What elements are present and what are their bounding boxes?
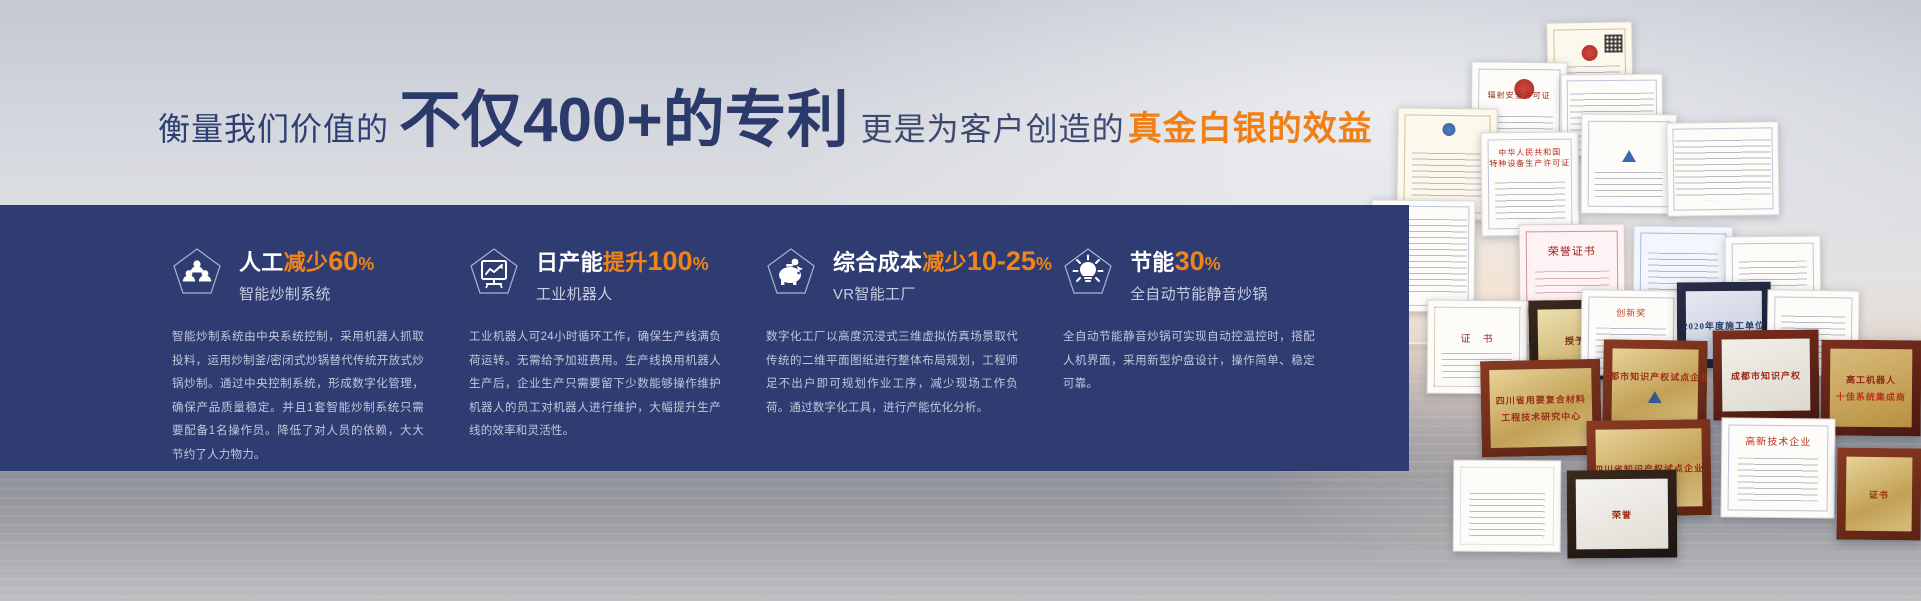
certificate-item (1581, 114, 1678, 215)
feature-title-highlight: 减少 (284, 250, 329, 275)
feature-title-number: 60 (328, 246, 358, 276)
feature-item-energy: 节能30% 全自动节能静音炒锅 全自动节能静音炒锅可实现自动控温控时，搭配人机界… (1063, 245, 1363, 471)
feature-item-labor: 人工减少60% 智能炒制系统 智能炒制系统由中央系统控制，采用机器人抓取投料，运… (172, 245, 469, 471)
features-panel: 人工减少60% 智能炒制系统 智能炒制系统由中央系统控制，采用机器人抓取投料，运… (0, 205, 1409, 471)
feature-title: 日产能提升100% (536, 246, 709, 276)
award-plaque: 四川省用要复合材料工程技术研究中心 (1480, 359, 1602, 457)
feature-title-unit: % (1205, 254, 1221, 274)
feature-title: 综合成本减少10-25% (833, 246, 1052, 276)
feature-subtitle: 智能炒制系统 (239, 283, 375, 304)
headline-emphasis: 不仅400+的专利 (389, 90, 855, 152)
feature-subtitle: VR智能工厂 (833, 283, 1052, 304)
lightbulb-icon (1063, 247, 1113, 297)
feature-title-prefix: 节能 (1130, 250, 1175, 275)
feature-title-prefix: 日产能 (536, 250, 603, 275)
certificate-item: 中华人民共和国特种设备生产许可证 (1480, 131, 1579, 236)
feature-title: 节能30% (1130, 246, 1268, 276)
certificate-item (1453, 460, 1562, 553)
award-plaque: 证书 (1836, 447, 1921, 540)
feature-title: 人工减少60% (239, 246, 375, 276)
feature-body: 数字化工厂以高度沉浸式三维虚拟仿真场景取代传统的二维平面图纸进行整体布局规划，工… (766, 326, 1018, 420)
page-title: 衡量我们价值的 不仅400+的专利 更是为客户创造的 真金白银的效益 (158, 76, 1373, 150)
certificate-item: 高新技术企业 (1720, 417, 1835, 518)
feature-item-capacity: 日产能提升100% 工业机器人 工业机器人可24小时循环工作，确保生产线满负荷运… (469, 245, 766, 471)
feature-subtitle: 工业机器人 (536, 283, 709, 304)
feature-title-number: 30 (1175, 246, 1205, 276)
feature-title-prefix: 综合成本 (833, 250, 922, 275)
feature-body: 智能炒制系统由中央系统控制，采用机器人抓取投料，运用炒制釜/密闭式炒锅替代传统开… (172, 326, 424, 467)
feature-title-prefix: 人工 (239, 250, 284, 275)
headline-middle: 更是为客户创造的 (855, 113, 1125, 150)
award-plaque: 高工机器人十佳系统集成商 (1821, 340, 1921, 437)
feature-title-number: 10-25 (967, 246, 1036, 276)
feature-list: 人工减少60% 智能炒制系统 智能炒制系统由中央系统控制，采用机器人抓取投料，运… (0, 205, 1409, 471)
award-plaque: 荣誉 (1567, 470, 1678, 559)
feature-title-unit: % (693, 254, 709, 274)
feature-body: 工业机器人可24小时循环工作，确保生产线满负荷运转。无需给予加班费用。生产线换用… (469, 326, 721, 444)
feature-subtitle: 全自动节能静音炒锅 (1130, 283, 1268, 304)
feature-item-cost: 综合成本减少10-25% VR智能工厂 数字化工厂以高度沉浸式三维虚拟仿真场景取… (766, 245, 1063, 471)
feature-body: 全自动节能静音炒锅可实现自动控温控时，搭配人机界面，采用新型炉盘设计，操作简单、… (1063, 326, 1315, 397)
feature-title-unit: % (358, 254, 374, 274)
chart-board-icon (469, 247, 519, 297)
headline-prefix: 衡量我们价值的 (158, 113, 389, 150)
award-plaque: 成都市知识产权 (1713, 329, 1820, 420)
people-group-icon (172, 247, 222, 297)
piggy-bank-icon (766, 247, 816, 297)
feature-title-highlight: 提升 (603, 250, 648, 275)
feature-title-number: 100 (648, 246, 693, 276)
feature-title-highlight: 减少 (922, 250, 967, 275)
feature-title-unit: % (1036, 254, 1052, 274)
certificate-item (1666, 121, 1779, 217)
